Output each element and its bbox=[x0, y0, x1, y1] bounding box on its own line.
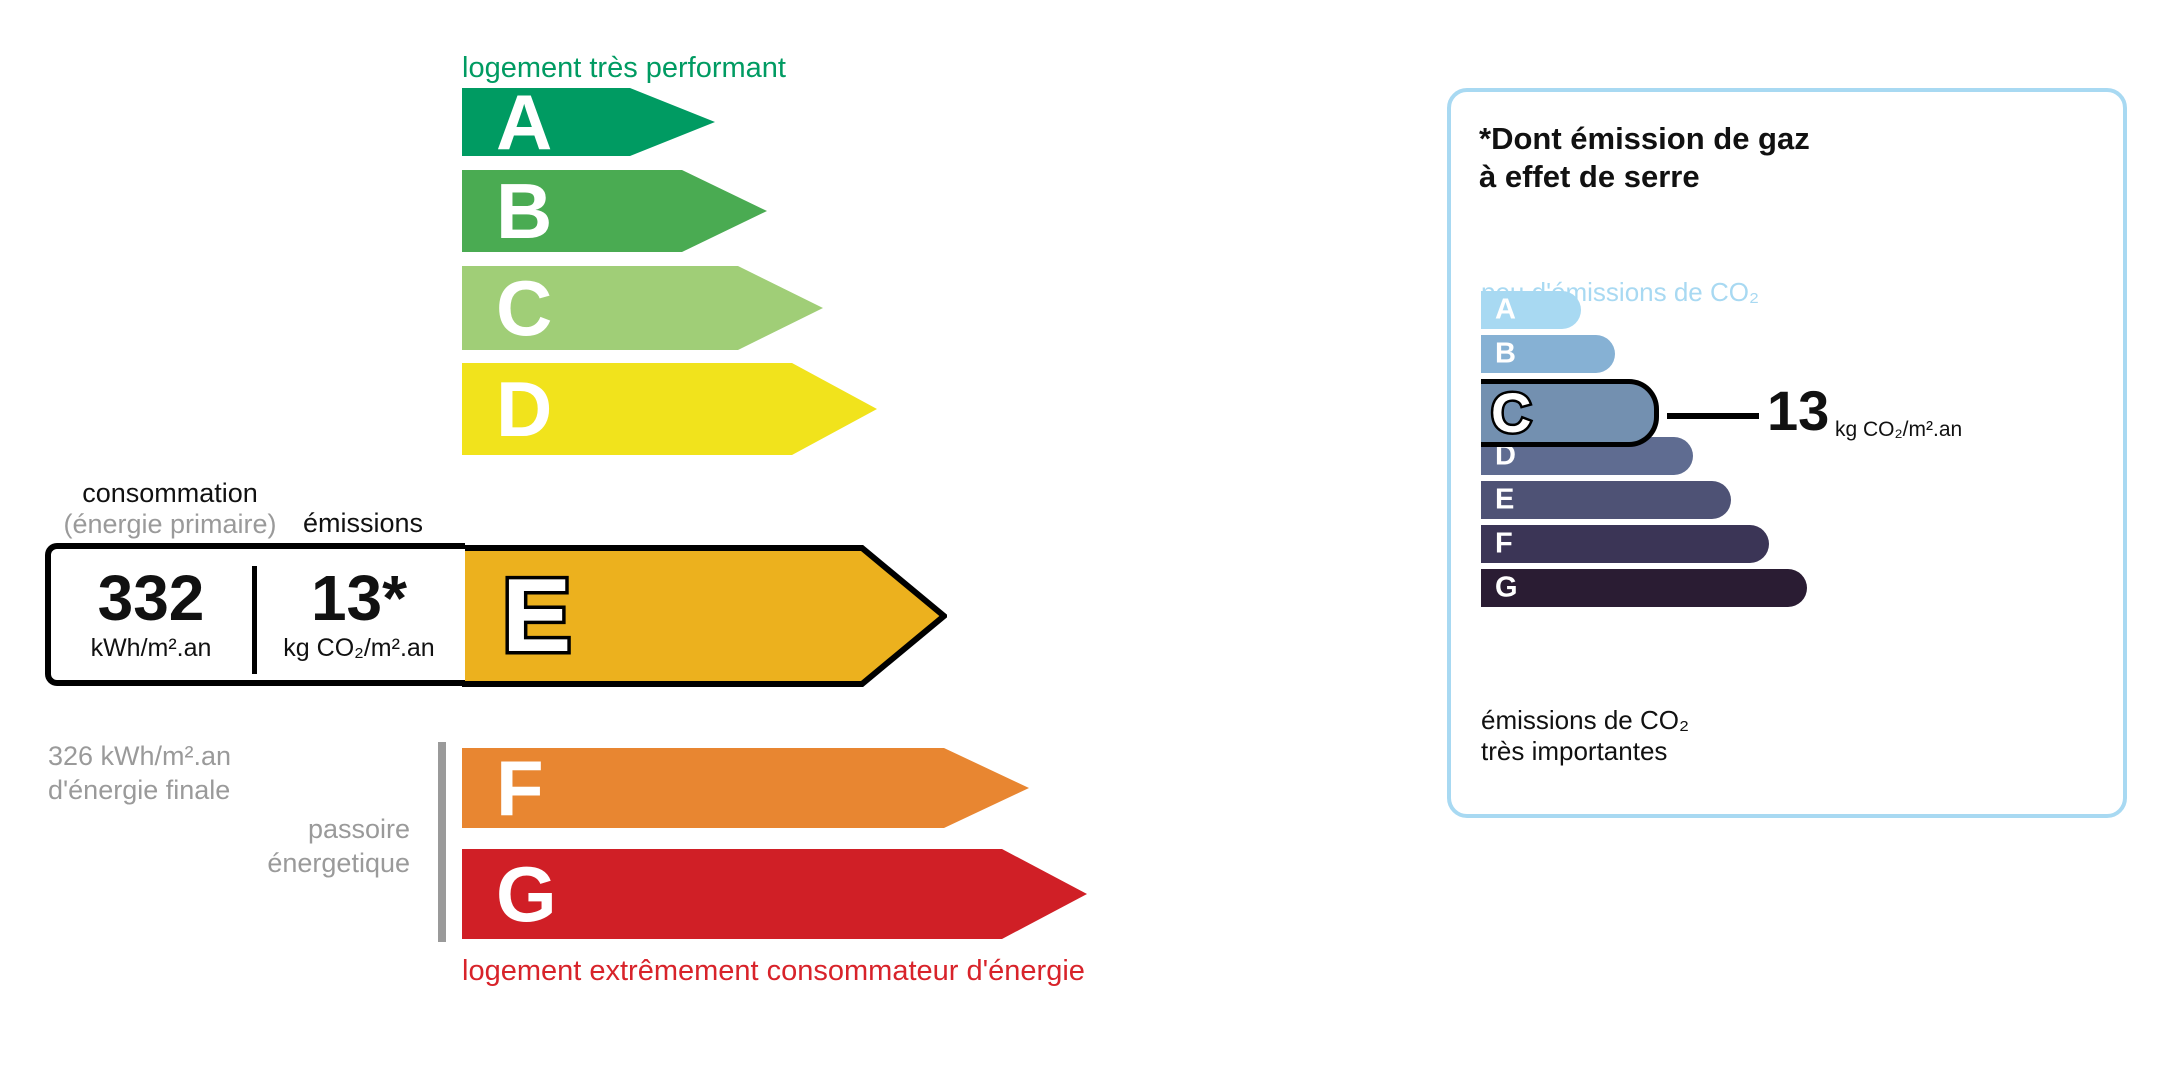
consumption-header-sublabel: (énergie primaire) bbox=[50, 509, 290, 540]
ges-bar-letter-g: G bbox=[1495, 574, 1518, 603]
energy-bar-letter-d: D bbox=[496, 370, 552, 448]
energy-bar-a: A bbox=[462, 88, 715, 156]
ges-title-line1: *Dont émission de gaz bbox=[1479, 120, 1810, 158]
ges-bar-letter-e: E bbox=[1495, 486, 1514, 515]
emission-cell: 13* kg CO₂/m².an bbox=[259, 549, 459, 680]
ges-title-line2: à effet de serre bbox=[1479, 158, 1810, 196]
energy-bar-d: D bbox=[462, 363, 877, 455]
ges-callout-value: 13 bbox=[1767, 383, 1829, 439]
consumption-header: consommation (énergie primaire) bbox=[50, 478, 290, 540]
ges-bar-e: E bbox=[1481, 481, 1731, 519]
ges-bar-g: G bbox=[1481, 569, 1807, 607]
ges-bottom-line1: émissions de CO₂ bbox=[1481, 705, 1689, 736]
passoire-note: passoire énergetique bbox=[150, 813, 410, 881]
energy-bar-letter-a: A bbox=[496, 83, 552, 161]
energy-bar-g: G bbox=[462, 849, 1087, 939]
energy-bar-b: B bbox=[462, 170, 767, 252]
final-energy-line1: 326 kWh/m².an bbox=[48, 740, 231, 774]
primary-energy-cell: 332 kWh/m².an bbox=[51, 549, 251, 680]
final-energy-note: 326 kWh/m².an d'énergie finale bbox=[48, 740, 231, 808]
ges-callout-leader-line bbox=[1667, 413, 1759, 419]
ges-bar-letter-a: A bbox=[1495, 296, 1516, 325]
energy-bar-letter-e: E bbox=[502, 564, 571, 668]
energy-bar-e: E bbox=[462, 545, 947, 687]
energy-bar-c: C bbox=[462, 266, 823, 350]
ges-panel-title: *Dont émission de gaz à effet de serre bbox=[1479, 120, 1810, 196]
primary-energy-value: 332 bbox=[98, 566, 205, 630]
final-energy-line2: d'énergie finale bbox=[48, 774, 231, 808]
ges-bar-a: A bbox=[1481, 291, 1581, 329]
energy-bar-letter-b: B bbox=[496, 172, 552, 250]
value-readout-box: 332 kWh/m².an 13* kg CO₂/m².an bbox=[45, 543, 465, 686]
ges-bar-letter-b: B bbox=[1495, 340, 1516, 369]
ges-callout-unit: kg CO₂/m².an bbox=[1835, 419, 1962, 440]
ges-bar-c: C bbox=[1481, 379, 1659, 447]
energy-bar-letter-g: G bbox=[496, 855, 557, 933]
ges-bar-letter-f: F bbox=[1495, 530, 1513, 559]
ges-bar-letter-c: C bbox=[1491, 385, 1531, 441]
passoire-line2: énergetique bbox=[150, 847, 410, 881]
energy-bar-letter-c: C bbox=[496, 269, 552, 347]
ges-emissions-panel: *Dont émission de gaz à effet de serre p… bbox=[1447, 88, 2127, 818]
consumption-header-label: consommation bbox=[82, 478, 258, 508]
energy-consumption-chart: logement très performant A B C D E F G c… bbox=[0, 0, 1400, 1079]
dpe-energy-label: logement très performant A B C D E F G c… bbox=[0, 0, 2169, 1079]
emission-value: 13* bbox=[311, 566, 407, 630]
passoire-line1: passoire bbox=[150, 813, 410, 847]
energy-bottom-caption: logement extrêmement consommateur d'éner… bbox=[462, 955, 1085, 988]
energy-bar-f: F bbox=[462, 748, 1029, 828]
passoire-divider-rule bbox=[438, 742, 446, 942]
emission-unit: kg CO₂/m².an bbox=[283, 634, 434, 663]
ges-bar-b: B bbox=[1481, 335, 1615, 373]
energy-bar-letter-f: F bbox=[496, 749, 544, 827]
primary-energy-unit: kWh/m².an bbox=[91, 634, 212, 663]
ges-bar-f: F bbox=[1481, 525, 1769, 563]
value-box-divider bbox=[252, 566, 257, 674]
emissions-header: émissions bbox=[303, 508, 423, 539]
ges-bottom-line2: très importantes bbox=[1481, 736, 1689, 767]
ges-bottom-caption: émissions de CO₂ très importantes bbox=[1481, 705, 1689, 767]
